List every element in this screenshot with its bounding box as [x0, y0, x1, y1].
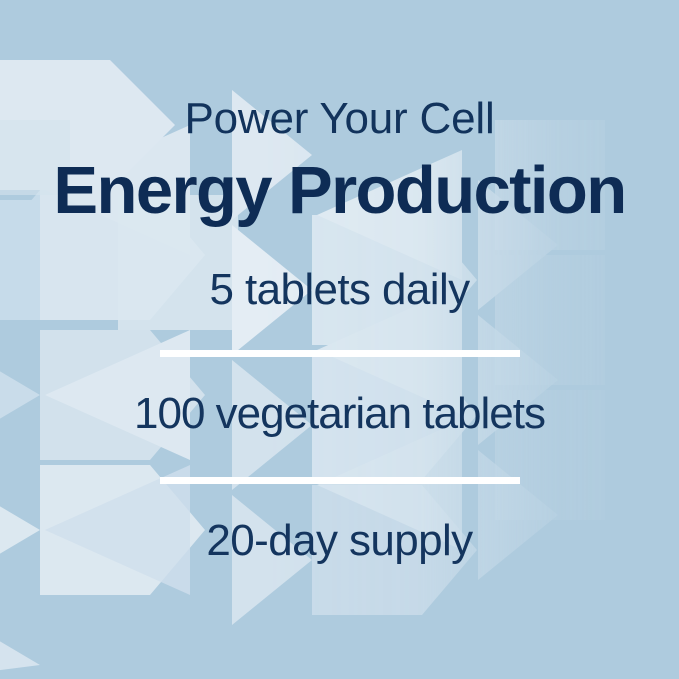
product-feature-panel: Power Your Cell Energy Production 5 tabl…: [0, 0, 679, 679]
panel-content: Power Your Cell Energy Production 5 tabl…: [0, 0, 679, 679]
page-title: Energy Production: [0, 157, 679, 224]
divider-above-count: [160, 350, 520, 357]
eyebrow-text: Power Your Cell: [0, 97, 679, 141]
fact-count: 100 vegetarian tablets: [0, 392, 679, 436]
fact-supply: 20-day supply: [0, 519, 679, 563]
fact-dosage: 5 tablets daily: [0, 268, 679, 312]
divider-above-supply: [160, 477, 520, 484]
